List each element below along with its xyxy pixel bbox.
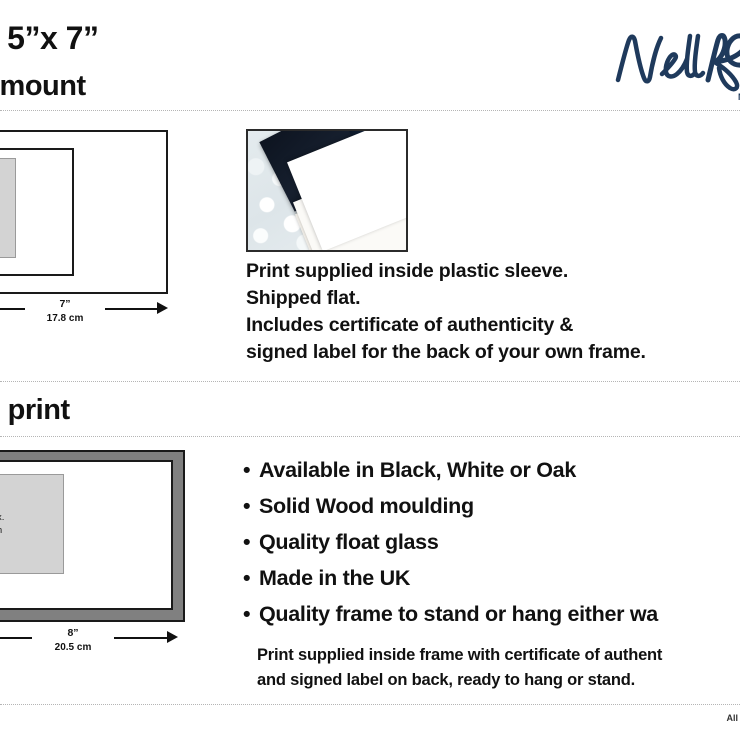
mount-description-line-3: Includes certificate of authenticity & xyxy=(246,312,740,339)
list-item: •Made in the UK xyxy=(243,560,740,596)
list-item: •Quality float glass xyxy=(243,524,740,560)
bullet-icon: • xyxy=(243,560,259,596)
frame-description: Print supplied inside frame with certifi… xyxy=(257,643,740,693)
divider-section-bottom xyxy=(0,436,740,438)
frame-dimension-arrow: 8” 20.5 cm xyxy=(0,628,190,662)
page-subtitle: with mount xyxy=(0,70,86,103)
mount-image-area: Image approx. 11.5 x 7.7 cm xyxy=(0,158,16,258)
feature-label: Quality float glass xyxy=(259,530,439,554)
bullet-icon: • xyxy=(243,596,259,632)
frame-dimension-inches: 8” xyxy=(67,627,78,639)
mount-dimension-inches: 7” xyxy=(59,298,70,310)
mount-dimension-cm: 17.8 cm xyxy=(30,313,100,324)
feature-label: Made in the UK xyxy=(259,566,410,590)
feature-label: Quality frame to stand or hang either wa xyxy=(259,602,658,626)
mount-description: Print supplied inside plastic sleeve. Sh… xyxy=(246,258,740,366)
frame-image-caption-line1: Image approx. xyxy=(0,511,4,524)
bullet-icon: • xyxy=(243,524,259,560)
frame-image-area: Image approx. 11.5 x 7.7 cm xyxy=(0,474,64,574)
mount-dimension-arrow: 7” 17.8 cm xyxy=(0,299,180,333)
list-item: •Quality frame to stand or hang either w… xyxy=(243,596,740,632)
brand-logo: NB xyxy=(612,28,740,104)
frame-dimension-cm: 20.5 cm xyxy=(37,642,109,653)
list-item: •Available in Black, White or Oak xyxy=(243,452,740,488)
mounted-print-photo xyxy=(246,129,408,252)
list-item: •Solid Wood moulding xyxy=(243,488,740,524)
frame-image-caption-line2: 11.5 x 7.7 cm xyxy=(0,524,2,537)
bullet-icon: • xyxy=(243,488,259,524)
mount-diagram: Image approx. 11.5 x 7.7 cm xyxy=(0,130,168,294)
mount-description-line-4: signed label for the back of your own fr… xyxy=(246,339,740,366)
page-title: IONS - 5”x 7” xyxy=(0,20,98,57)
mount-dimension-label: 7” 17.8 cm xyxy=(25,299,105,324)
section-title-framed-print: med print xyxy=(0,394,70,427)
frame-description-line-2: and signed label on back, ready to hang … xyxy=(257,668,740,693)
divider-footer xyxy=(0,704,740,706)
frame-dimension-label: 8” 20.5 cm xyxy=(32,628,114,653)
mount-description-line-1: Print supplied inside plastic sleeve. xyxy=(246,258,740,285)
frame-mount-board: Image approx. 11.5 x 7.7 cm xyxy=(0,460,173,610)
divider-header xyxy=(0,110,740,112)
frame-diagram: Image approx. 11.5 x 7.7 cm xyxy=(0,450,185,622)
feature-label: Solid Wood moulding xyxy=(259,494,474,518)
mount-description-line-2: Shipped flat. xyxy=(246,285,740,312)
bullet-icon: • xyxy=(243,452,259,488)
mount-board: Image approx. 11.5 x 7.7 cm xyxy=(0,148,74,276)
signature-icon xyxy=(612,28,740,96)
frame-description-line-1: Print supplied inside frame with certifi… xyxy=(257,643,740,668)
divider-section-top xyxy=(0,381,740,383)
frame-feature-list: •Available in Black, White or Oak •Solid… xyxy=(243,452,740,632)
footnote-text: All xyxy=(726,713,738,723)
feature-label: Available in Black, White or Oak xyxy=(259,458,576,482)
